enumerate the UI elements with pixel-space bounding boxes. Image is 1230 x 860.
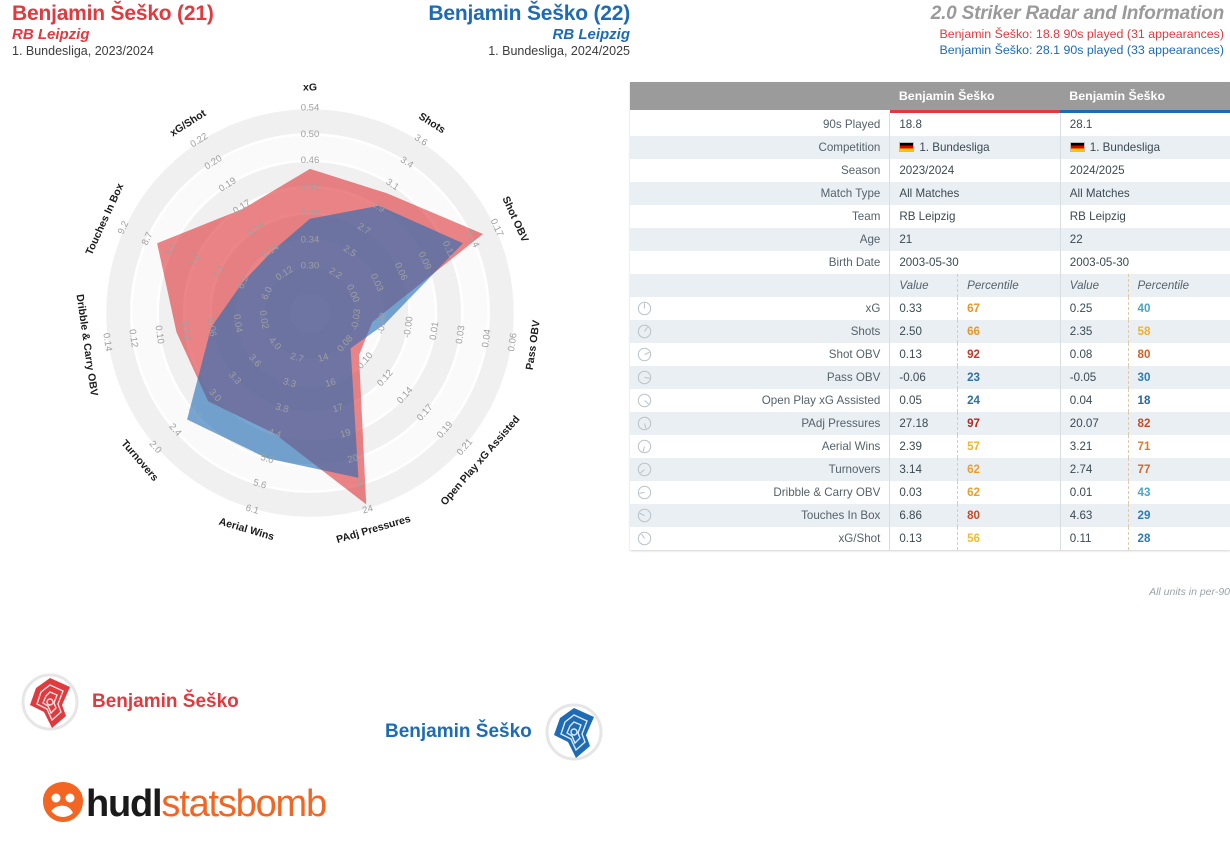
dial-icon <box>637 347 652 362</box>
radar-tick-label: 0.30 <box>301 261 320 272</box>
radar-blob-icon <box>18 672 82 732</box>
value-percentile-header-row: ValuePercentileValuePercentile <box>630 274 1230 297</box>
germany-flag-icon <box>1070 142 1085 152</box>
metric-row: Aerial Wins2.39573.2171 <box>630 435 1230 458</box>
metric-percentile-player-2: 18 <box>1128 389 1230 412</box>
row-icon-blank <box>630 251 658 274</box>
player-2-minutes: Benjamin Šeško: 28.1 90s played (33 appe… <box>931 42 1224 59</box>
radar-axis-label: Shots <box>416 110 447 136</box>
radar-chart: 0.300.340.380.420.460.500.542.22.52.72.9… <box>0 60 630 660</box>
metric-row: xG/Shot0.13560.1128 <box>630 527 1230 550</box>
metric-row: Touches In Box6.86804.6329 <box>630 504 1230 527</box>
player-1-header: Benjamin Šeško (21) RB Leipzig 1. Bundes… <box>12 2 214 59</box>
radar-page: Benjamin Šeško (21) RB Leipzig 1. Bundes… <box>0 0 1230 860</box>
row-value-player-2: RB Leipzig <box>1060 205 1230 228</box>
metric-percentile-player-1: 62 <box>958 458 1061 481</box>
row-label: Competition <box>658 136 890 159</box>
dial-icon <box>637 485 652 500</box>
table-row: Birth Date2003-05-302003-05-30 <box>630 251 1230 274</box>
metric-value-player-1: 0.05 <box>890 389 958 412</box>
player-2-header: Benjamin Šeško (22) RB Leipzig 1. Bundes… <box>330 2 630 59</box>
table-header-row: Benjamin Šeško Benjamin Šeško <box>630 82 1230 110</box>
legend-label-player-1: Benjamin Šeško <box>92 691 239 713</box>
metric-label: Shot OBV <box>658 343 890 366</box>
radar-axis-label: Shot OBV <box>499 195 530 245</box>
dial-icon <box>637 531 652 546</box>
metric-label: Shots <box>658 320 890 343</box>
legend-item-player-2: Benjamin Šeško <box>385 702 606 762</box>
metric-dial-cell <box>630 297 658 320</box>
table-row: Match TypeAll MatchesAll Matches <box>630 182 1230 205</box>
row-icon-blank <box>630 113 658 136</box>
statsbomb-logo: hudlstatsbomb <box>40 780 326 826</box>
vp-label-blank <box>658 274 890 297</box>
table-head: Benjamin Šeško Benjamin Šeško <box>630 82 1230 113</box>
report-header: 2.0 Striker Radar and Information Benjam… <box>931 2 1224 59</box>
metric-row: xG0.33670.2540 <box>630 297 1230 320</box>
metric-label: Aerial Wins <box>658 435 890 458</box>
row-value-player-2: 2003-05-30 <box>1060 251 1230 274</box>
metric-percentile-player-1: 56 <box>958 527 1061 550</box>
player-2-team: RB Leipzig <box>330 26 630 43</box>
radar-tick-label: 0.54 <box>301 103 320 114</box>
metric-value-player-2: 0.25 <box>1060 297 1128 320</box>
percentile-header-player-2: Percentile <box>1128 274 1230 297</box>
row-value-player-1: 2003-05-30 <box>890 251 1060 274</box>
metric-row: Shots2.50662.3558 <box>630 320 1230 343</box>
percentile-header-player-1: Percentile <box>958 274 1061 297</box>
row-value-player-2: 1. Bundesliga <box>1060 136 1230 159</box>
radar-tick-label: 0.50 <box>301 129 320 140</box>
metric-dial-cell <box>630 481 658 504</box>
metric-value-player-1: 0.33 <box>890 297 958 320</box>
metric-label: Turnovers <box>658 458 890 481</box>
row-value-player-2: 22 <box>1060 228 1230 251</box>
dial-icon <box>637 439 652 454</box>
dial-icon <box>637 324 652 339</box>
row-label: Age <box>658 228 890 251</box>
row-value-player-2: All Matches <box>1060 182 1230 205</box>
radar-axis-label: Pass OBV <box>524 319 543 370</box>
metric-row: Open Play xG Assisted0.05240.0418 <box>630 389 1230 412</box>
metric-percentile-player-1: 23 <box>958 366 1061 389</box>
player-2-competition: 1. Bundesliga, 2024/2025 <box>330 43 630 59</box>
value-header-player-1: Value <box>890 274 958 297</box>
metric-value-player-2: 0.01 <box>1060 481 1128 504</box>
dial-icon <box>637 301 652 316</box>
row-value-player-1: 1. Bundesliga <box>890 136 1060 159</box>
radar-tick-label: 0.14 <box>100 332 114 352</box>
row-value-player-2: 2024/2025 <box>1060 159 1230 182</box>
metric-percentile-player-2: 58 <box>1128 320 1230 343</box>
radar-axis-label: Dribble & Carry OBV <box>74 293 101 396</box>
table-row: Season2023/20242024/2025 <box>630 159 1230 182</box>
dial-icon <box>637 416 652 431</box>
radar-tick-label: 0.34 <box>301 234 320 245</box>
metric-dial-cell <box>630 504 658 527</box>
metric-percentile-player-2: 71 <box>1128 435 1230 458</box>
metric-percentile-player-2: 80 <box>1128 343 1230 366</box>
metric-dial-cell <box>630 458 658 481</box>
metric-percentile-player-1: 97 <box>958 412 1061 435</box>
metric-dial-cell <box>630 435 658 458</box>
player-comparison-table: Benjamin Šeško Benjamin Šeško 90s Played… <box>630 82 1230 550</box>
metric-value-player-1: 0.13 <box>890 527 958 550</box>
metric-value-player-2: 0.08 <box>1060 343 1128 366</box>
dial-icon <box>637 462 652 477</box>
metric-percentile-player-2: 40 <box>1128 297 1230 320</box>
radar-tick-label: 0.42 <box>301 182 320 193</box>
logo-text-statsbomb: statsbomb <box>161 783 326 825</box>
row-label: Match Type <box>658 182 890 205</box>
metric-label: xG/Shot <box>658 527 890 550</box>
table-row: TeamRB LeipzigRB Leipzig <box>630 205 1230 228</box>
legend-item-player-1: Benjamin Šeško <box>18 672 239 732</box>
value-header-player-2: Value <box>1060 274 1128 297</box>
player-1-competition: 1. Bundesliga, 2023/2024 <box>12 43 214 59</box>
metric-row: Dribble & Carry OBV0.03620.0143 <box>630 481 1230 504</box>
metric-percentile-player-2: 29 <box>1128 504 1230 527</box>
row-label: Birth Date <box>658 251 890 274</box>
legend-label-player-2: Benjamin Šeško <box>385 721 532 743</box>
dial-icon <box>637 393 652 408</box>
metric-percentile-player-1: 80 <box>958 504 1061 527</box>
metric-value-player-1: 27.18 <box>890 412 958 435</box>
radar-tick-label: 0.38 <box>301 208 320 219</box>
metric-value-player-2: -0.05 <box>1060 366 1128 389</box>
units-note: All units in per-90 <box>630 586 1230 598</box>
dial-icon <box>637 508 652 523</box>
row-value-player-1: RB Leipzig <box>890 205 1060 228</box>
metric-percentile-player-1: 92 <box>958 343 1061 366</box>
metric-percentile-player-2: 82 <box>1128 412 1230 435</box>
row-value-player-1: 21 <box>890 228 1060 251</box>
metric-percentile-player-2: 30 <box>1128 366 1230 389</box>
table-row: Age2122 <box>630 228 1230 251</box>
metric-row: PAdj Pressures27.189720.0782 <box>630 412 1230 435</box>
row-value-player-1: 18.8 <box>890 113 1060 136</box>
metric-row: Shot OBV0.13920.0880 <box>630 343 1230 366</box>
metric-dial-cell <box>630 320 658 343</box>
row-icon-blank <box>630 159 658 182</box>
row-label: Team <box>658 205 890 228</box>
radar-axis-label: Aerial Wins <box>217 516 275 544</box>
row-label: Season <box>658 159 890 182</box>
dial-icon <box>637 370 652 385</box>
row-value-player-1: All Matches <box>890 182 1060 205</box>
table-info-body: 90s Played18.828.1Competition1. Bundesli… <box>630 113 1230 274</box>
metric-label: Dribble & Carry OBV <box>658 481 890 504</box>
metric-value-player-2: 0.11 <box>1060 527 1128 550</box>
metric-label: Pass OBV <box>658 366 890 389</box>
metric-value-player-1: 0.13 <box>890 343 958 366</box>
germany-flag-icon <box>899 142 914 152</box>
radar-tick-label: 0.06 <box>506 332 520 352</box>
metric-value-player-2: 3.21 <box>1060 435 1128 458</box>
metric-dial-cell <box>630 527 658 550</box>
metric-percentile-player-2: 43 <box>1128 481 1230 504</box>
row-value-player-2: 28.1 <box>1060 113 1230 136</box>
metric-percentile-player-1: 24 <box>958 389 1061 412</box>
metric-label: Touches In Box <box>658 504 890 527</box>
row-icon-blank <box>630 228 658 251</box>
metric-percentile-player-1: 62 <box>958 481 1061 504</box>
player-1-name: Benjamin Šeško (21) <box>12 2 214 26</box>
metric-value-player-2: 2.74 <box>1060 458 1128 481</box>
radar-blob-icon <box>542 702 606 762</box>
row-icon-blank <box>630 205 658 228</box>
metric-label: PAdj Pressures <box>658 412 890 435</box>
metric-value-player-1: -0.06 <box>890 366 958 389</box>
metric-label: xG <box>658 297 890 320</box>
metric-value-player-1: 0.03 <box>890 481 958 504</box>
metric-percentile-player-2: 77 <box>1128 458 1230 481</box>
metric-dial-cell <box>630 366 658 389</box>
player-2-name: Benjamin Šeško (22) <box>330 2 630 26</box>
table-header-blank <box>630 82 890 110</box>
metric-value-player-1: 6.86 <box>890 504 958 527</box>
metric-percentile-player-1: 66 <box>958 320 1061 343</box>
metric-value-player-1: 2.50 <box>890 320 958 343</box>
table-metric-body: ValuePercentileValuePercentilexG0.33670.… <box>630 274 1230 550</box>
vp-icon-blank <box>630 274 658 297</box>
row-value-player-1: 2023/2024 <box>890 159 1060 182</box>
row-icon-blank <box>630 182 658 205</box>
radar-tick-label: 0.46 <box>301 155 320 166</box>
report-title: 2.0 Striker Radar and Information <box>931 2 1224 26</box>
metric-value-player-1: 2.39 <box>890 435 958 458</box>
metric-percentile-player-1: 67 <box>958 297 1061 320</box>
logo-text-hudl: hudl <box>86 783 161 825</box>
metric-dial-cell <box>630 343 658 366</box>
player-1-minutes: Benjamin Šeško: 18.8 90s played (31 appe… <box>931 26 1224 43</box>
player-2-marker <box>542 702 606 762</box>
metric-label: Open Play xG Assisted <box>658 389 890 412</box>
row-icon-blank <box>630 136 658 159</box>
metric-value-player-1: 3.14 <box>890 458 958 481</box>
metric-value-player-2: 20.07 <box>1060 412 1128 435</box>
table-row: 90s Played18.828.1 <box>630 113 1230 136</box>
metric-row: Turnovers3.14622.7477 <box>630 458 1230 481</box>
table-header-player-1: Benjamin Šeško <box>890 82 1060 110</box>
metric-percentile-player-2: 28 <box>1128 527 1230 550</box>
table-row: Competition1. Bundesliga1. Bundesliga <box>630 136 1230 159</box>
table-header-player-2: Benjamin Šeško <box>1060 82 1230 110</box>
radar-tick-label: 6.1 <box>244 503 260 517</box>
metric-percentile-player-1: 57 <box>958 435 1061 458</box>
metric-value-player-2: 2.35 <box>1060 320 1128 343</box>
player-1-team: RB Leipzig <box>12 26 214 43</box>
radar-axis-label: xG <box>303 82 317 94</box>
radar-axis-label: PAdj Pressures <box>335 513 412 546</box>
hudl-mark-icon <box>40 780 86 824</box>
player-1-marker <box>18 672 82 732</box>
metric-dial-cell <box>630 412 658 435</box>
metric-value-player-2: 4.63 <box>1060 504 1128 527</box>
metric-value-player-2: 0.04 <box>1060 389 1128 412</box>
metric-dial-cell <box>630 389 658 412</box>
row-label: 90s Played <box>658 113 890 136</box>
metric-row: Pass OBV-0.0623-0.0530 <box>630 366 1230 389</box>
